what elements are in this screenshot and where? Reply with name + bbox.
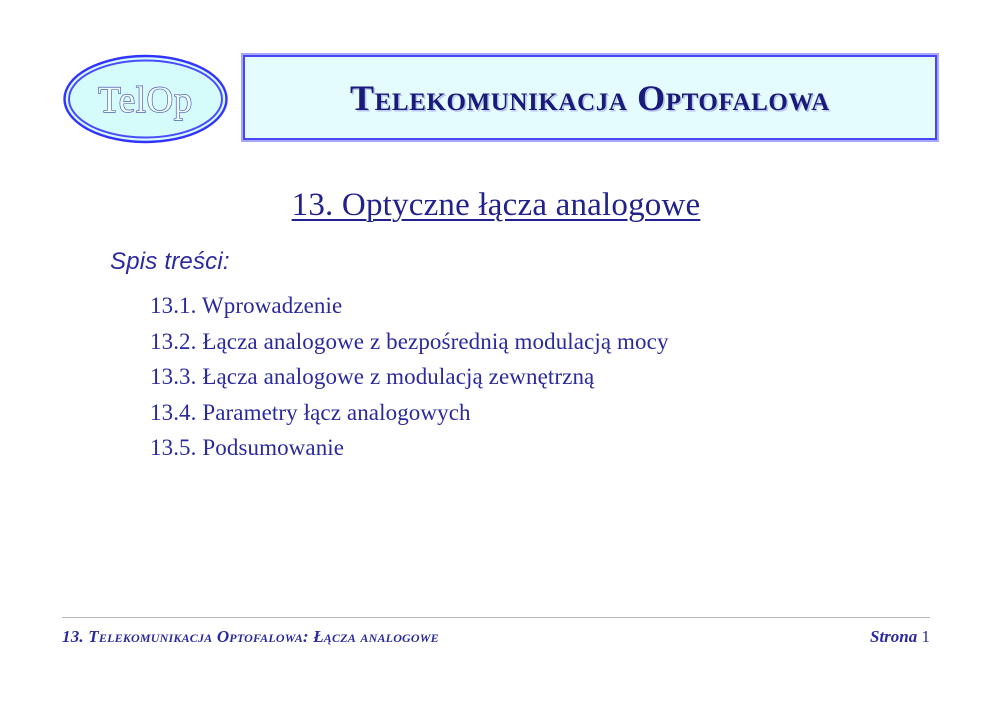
course-title-text: Telekomunikacja Optofalowa: [350, 77, 830, 119]
toc-label: Spis treści:: [110, 248, 230, 276]
header-band: TelOp Telekomunikacja Optofalowa: [0, 0, 992, 160]
footer-page-indicator: Strona 1: [870, 627, 930, 647]
footer-left-text: 13. Telekomunikacja Optofalowa: Łącza an…: [62, 627, 439, 647]
telop-logo: TelOp: [62, 54, 229, 144]
list-item: 13.1. Wprowadzenie: [150, 288, 910, 324]
footer-page-number: 1: [922, 627, 931, 646]
page-title: 13. Optyczne łącza analogowe: [0, 187, 992, 224]
footer-divider: [62, 617, 930, 618]
course-title-box: Telekomunikacja Optofalowa: [243, 55, 937, 140]
footer: 13. Telekomunikacja Optofalowa: Łącza an…: [62, 624, 930, 650]
page-title-text: 13. Optyczne łącza analogowe: [292, 187, 701, 223]
toc-list: 13.1. Wprowadzenie 13.2. Łącza analogowe…: [150, 288, 910, 466]
list-item: 13.2. Łącza analogowe z bezpośrednią mod…: [150, 324, 910, 360]
list-item: 13.4. Parametry łącz analogowych: [150, 395, 910, 431]
logo-text: TelOp: [98, 80, 192, 121]
footer-page-word: Strona: [870, 627, 917, 646]
list-item: 13.3. Łącza analogowe z modulacją zewnęt…: [150, 359, 910, 395]
list-item: 13.5. Podsumowanie: [150, 430, 910, 466]
